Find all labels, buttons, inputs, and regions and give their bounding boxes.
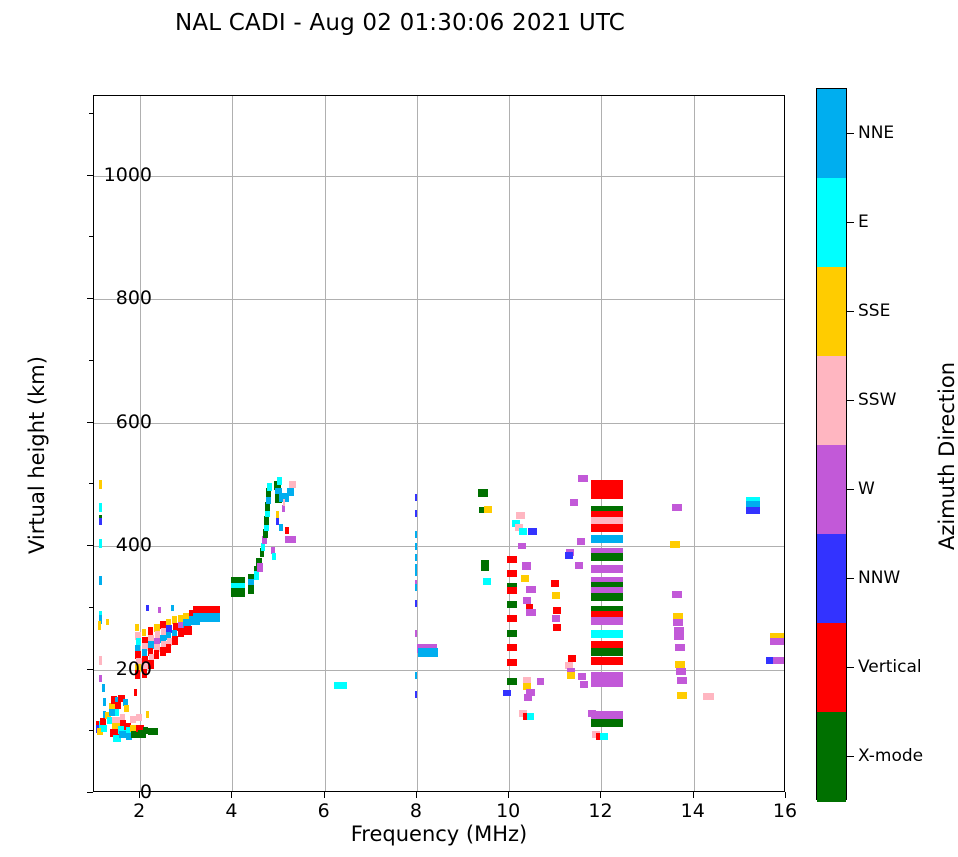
echo-point — [577, 538, 585, 545]
colorbar-label-sse: SSE — [858, 301, 890, 321]
echo-point — [99, 656, 102, 665]
y-minor-tick — [89, 113, 93, 114]
echo-point — [507, 644, 516, 651]
x-tick-label: 4 — [225, 800, 237, 822]
echo-point — [418, 648, 439, 657]
echo-point — [101, 725, 107, 732]
colorbar-label-e: E — [858, 212, 869, 232]
echo-point — [675, 644, 685, 651]
y-tick-mark — [87, 545, 93, 546]
echo-point — [526, 609, 536, 616]
echo-point — [521, 575, 529, 582]
x-tick-mark — [785, 792, 786, 798]
echo-point — [146, 605, 149, 611]
echo-point — [677, 677, 687, 684]
echo-point — [478, 489, 488, 497]
echo-point — [516, 512, 525, 519]
x-tick-mark — [231, 792, 232, 798]
echo-point — [553, 607, 561, 614]
echo-point — [481, 565, 489, 571]
echo-point — [518, 543, 526, 549]
y-tick-label: 800 — [116, 287, 152, 309]
y-tick-mark — [87, 175, 93, 176]
echo-point — [551, 580, 559, 587]
echo-point — [285, 527, 289, 534]
colorbar-band-w[interactable] — [817, 445, 846, 535]
echo-point — [334, 682, 347, 689]
echo-point — [703, 693, 713, 700]
echo-point — [142, 629, 147, 636]
x-tick-label: 14 — [681, 800, 705, 822]
echo-point — [591, 593, 623, 601]
echo-point — [675, 661, 685, 668]
echo-point — [523, 597, 531, 604]
echo-point — [676, 668, 686, 675]
echo-point — [103, 698, 106, 706]
echo-point — [507, 615, 516, 622]
x-tick-label: 12 — [588, 800, 612, 822]
echo-point — [231, 588, 245, 597]
echo-point — [552, 592, 560, 599]
echo-point — [267, 483, 272, 491]
echo-point — [580, 681, 588, 688]
echo-point — [672, 591, 682, 598]
echo-point — [102, 684, 105, 692]
colorbar-tick — [847, 311, 854, 313]
echo-point — [415, 554, 417, 561]
echo-point — [674, 633, 684, 640]
colorbar-label-nne: NNE — [858, 123, 894, 143]
colorbar-label-vertical: Vertical — [858, 657, 922, 677]
echo-point — [257, 563, 263, 572]
x-tick-label: 2 — [133, 800, 145, 822]
colorbar-tick — [847, 756, 854, 758]
echo-point — [146, 711, 150, 718]
echo-point — [154, 650, 160, 659]
echo-point — [415, 691, 417, 698]
echo-point — [158, 607, 161, 613]
echo-point — [507, 630, 516, 637]
y-minor-tick — [89, 607, 93, 608]
colorbar-band-vertical[interactable] — [817, 623, 846, 713]
y-tick-label: 600 — [116, 411, 152, 433]
echo-point — [415, 600, 417, 607]
colorbar-band-ssw[interactable] — [817, 356, 846, 446]
ionogram-figure: NAL CADI - Aug 02 01:30:06 2021 UTC 2468… — [0, 0, 958, 857]
colorbar-tick — [847, 578, 854, 580]
echo-point — [673, 619, 683, 626]
echo-point — [567, 672, 575, 679]
y-tick-mark — [87, 792, 93, 793]
echo-point — [283, 499, 286, 506]
colorbar[interactable] — [816, 88, 847, 800]
echo-point — [575, 562, 583, 569]
echo-point — [171, 605, 174, 611]
echo-point — [528, 528, 537, 535]
echo-point — [261, 543, 265, 551]
y-tick-label: 200 — [116, 658, 152, 680]
echo-points-layer — [94, 96, 784, 791]
echo-point — [289, 481, 295, 488]
echo-point — [591, 617, 623, 625]
echo-point — [415, 584, 417, 591]
plot-area[interactable] — [93, 95, 785, 792]
y-minor-tick — [89, 730, 93, 731]
echo-point — [507, 556, 516, 563]
y-tick-label: 0 — [140, 781, 152, 803]
echo-point — [527, 713, 533, 720]
echo-point — [178, 628, 184, 637]
echo-point — [591, 491, 623, 499]
echo-point — [99, 518, 102, 525]
colorbar-tick — [847, 667, 854, 669]
echo-point — [415, 569, 417, 576]
colorbar-band-nnw[interactable] — [817, 534, 846, 624]
x-tick-label: 16 — [773, 800, 797, 822]
echo-point — [553, 624, 561, 631]
echo-point — [285, 536, 295, 543]
echo-point — [578, 475, 587, 482]
echo-point — [166, 644, 172, 653]
x-tick-mark — [693, 792, 694, 798]
echo-point — [537, 678, 545, 685]
echo-point — [115, 709, 120, 716]
colorbar-label-w: W — [858, 479, 875, 499]
echo-point — [672, 504, 682, 511]
y-axis-title: Virtual height (km) — [25, 255, 49, 655]
echo-point — [154, 728, 159, 735]
colorbar-title: Azimuth Direction — [935, 246, 958, 666]
colorbar-band-x-mode[interactable] — [817, 712, 846, 802]
echo-point — [277, 477, 282, 485]
x-tick-mark — [416, 792, 417, 798]
echo-point — [99, 576, 102, 585]
echo-point — [484, 506, 492, 513]
echo-point — [99, 503, 102, 512]
echo-point — [106, 619, 109, 625]
colorbar-tick — [847, 222, 854, 224]
echo-point — [591, 657, 623, 665]
echo-point — [670, 541, 680, 548]
x-tick-mark — [324, 792, 325, 798]
echo-point — [591, 679, 623, 687]
echo-point — [591, 524, 623, 532]
echo-point — [415, 531, 417, 538]
figure-title: NAL CADI - Aug 02 01:30:06 2021 UTC — [0, 10, 800, 36]
echo-point — [507, 659, 516, 666]
echo-point — [524, 694, 532, 701]
echo-point — [591, 553, 623, 561]
echo-point — [415, 494, 417, 501]
echo-point — [272, 553, 276, 560]
echo-point — [415, 543, 417, 550]
echo-point — [591, 565, 623, 573]
echo-point — [98, 621, 101, 630]
echo-point — [503, 690, 511, 696]
echo-point — [99, 480, 102, 489]
echo-point — [507, 678, 516, 685]
echo-point — [415, 510, 417, 517]
y-minor-tick — [89, 483, 93, 484]
y-minor-tick — [89, 236, 93, 237]
colorbar-band-e[interactable] — [817, 178, 846, 268]
colorbar-band-sse[interactable] — [817, 267, 846, 357]
echo-point — [519, 528, 527, 535]
echo-point — [134, 689, 137, 696]
echo-point — [591, 535, 623, 543]
echo-point — [483, 578, 491, 585]
x-tick-label: 8 — [410, 800, 422, 822]
echo-point — [591, 630, 623, 638]
y-tick-label: 1000 — [104, 164, 152, 186]
colorbar-tick — [847, 489, 854, 491]
echo-point — [600, 733, 608, 740]
echo-point — [254, 571, 260, 580]
echo-point — [526, 586, 536, 593]
echo-point — [677, 692, 687, 699]
echo-point — [99, 675, 102, 682]
echo-point — [184, 626, 191, 635]
colorbar-label-nnw: NNW — [858, 568, 900, 588]
echo-point — [565, 552, 573, 559]
echo-point — [248, 585, 254, 594]
x-axis-title: Frequency (MHz) — [93, 822, 785, 846]
echo-point — [507, 570, 516, 577]
echo-point — [773, 657, 784, 664]
echo-point — [522, 562, 531, 570]
y-tick-mark — [87, 298, 93, 299]
echo-point — [99, 539, 102, 548]
echo-point — [507, 601, 516, 608]
echo-point — [415, 672, 417, 679]
echo-point — [591, 719, 623, 727]
y-tick-mark — [87, 422, 93, 423]
x-tick-mark — [508, 792, 509, 798]
y-tick-label: 400 — [116, 534, 152, 556]
echo-point — [130, 716, 136, 723]
colorbar-band-nne[interactable] — [817, 89, 846, 179]
echo-point — [507, 587, 516, 594]
x-tick-label: 10 — [496, 800, 520, 822]
y-tick-mark — [87, 669, 93, 670]
x-tick-mark — [600, 792, 601, 798]
echo-point — [570, 499, 578, 506]
echo-point — [770, 638, 784, 645]
echo-point — [135, 624, 140, 631]
colorbar-label-ssw: SSW — [858, 390, 896, 410]
y-minor-tick — [89, 360, 93, 361]
echo-point — [115, 702, 121, 709]
echo-point — [279, 524, 283, 531]
colorbar-tick — [847, 400, 854, 402]
echo-point — [578, 673, 586, 680]
colorbar-tick — [847, 133, 854, 135]
x-tick-label: 6 — [318, 800, 330, 822]
echo-point — [568, 655, 576, 662]
echo-point — [746, 507, 760, 514]
echo-point — [591, 648, 623, 656]
colorbar-label-x-mode: X-mode — [858, 746, 923, 766]
echo-point — [287, 488, 294, 496]
echo-point — [552, 615, 560, 622]
echo-point — [172, 636, 178, 645]
echo-point — [136, 714, 142, 721]
echo-point — [193, 613, 221, 622]
echo-point — [415, 630, 417, 637]
echo-point — [124, 705, 129, 712]
